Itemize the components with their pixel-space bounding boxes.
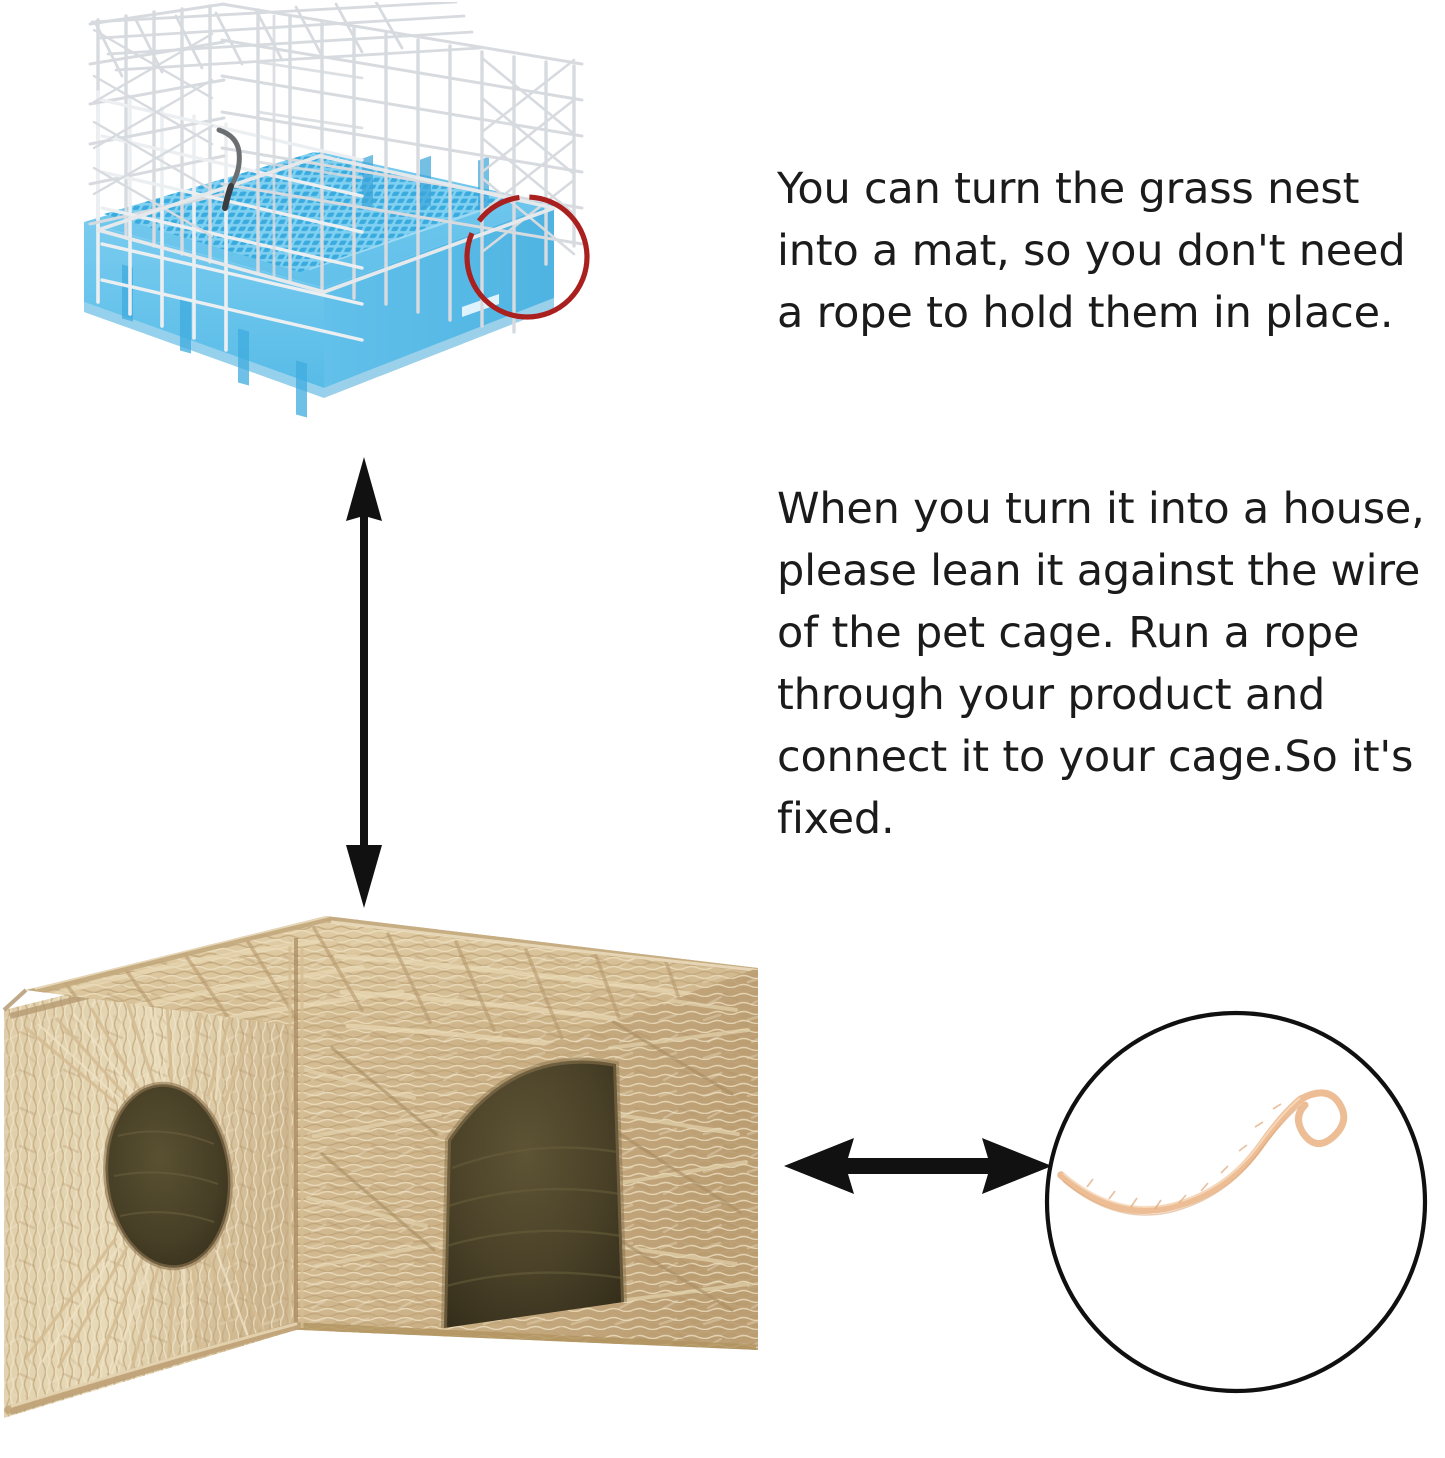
instruction-text-house: When you turn it into a house, please le… bbox=[777, 478, 1445, 850]
rope-inset-photo bbox=[1043, 1009, 1429, 1395]
infographic-canvas: You can turn the grass nest into a mat, … bbox=[0, 0, 1445, 1455]
horizontal-double-arrow bbox=[782, 1130, 1054, 1202]
pet-cage-photo bbox=[62, 2, 622, 432]
grass-house-photo bbox=[0, 898, 768, 1458]
vertical-double-arrow bbox=[330, 455, 400, 910]
instruction-text-mat: You can turn the grass nest into a mat, … bbox=[777, 158, 1445, 344]
